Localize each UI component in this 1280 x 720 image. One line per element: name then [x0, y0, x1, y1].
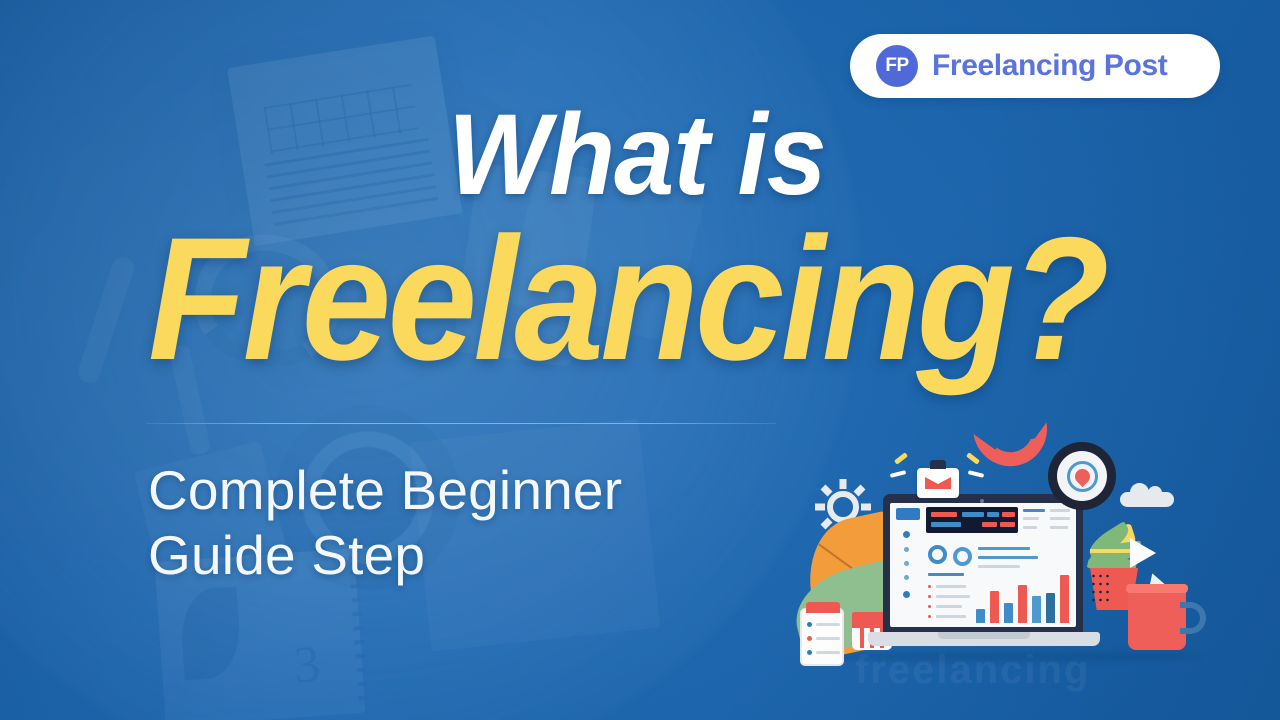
header-chip	[1000, 522, 1015, 527]
thumbnail-canvas: 3 freelancing FP Freelancing Post What i…	[0, 0, 1280, 720]
bar	[1032, 596, 1041, 623]
cloud-icon	[1120, 492, 1174, 507]
background-glow-circle	[0, 0, 860, 720]
dashboard-text-line	[1023, 517, 1039, 520]
checklist-dot	[807, 622, 812, 627]
dashboard-nav-dot	[903, 591, 910, 598]
donut-chart	[928, 545, 947, 564]
spark-line	[966, 452, 980, 465]
list-bullet	[928, 585, 931, 588]
dashboard-nav-dot	[904, 547, 909, 552]
checklist-dot	[807, 636, 812, 641]
header-chip	[987, 512, 999, 517]
header-chip	[962, 512, 984, 517]
mobile-checklist	[800, 608, 844, 666]
spark-line	[890, 470, 906, 478]
envelope-icon	[917, 468, 959, 498]
target-ring-outer	[1057, 451, 1107, 501]
header-chip	[1002, 512, 1015, 517]
brand-name-label: Freelancing Post	[932, 49, 1167, 83]
coffee-mug	[1128, 588, 1186, 650]
arrow-icon	[1130, 538, 1156, 568]
dashboard-text-line	[978, 547, 1030, 550]
brand-logo-pill[interactable]: FP Freelancing Post	[850, 34, 1220, 98]
dashboard-text-line	[936, 615, 966, 618]
dashboard-text-line	[936, 595, 970, 598]
checklist-row	[816, 623, 840, 626]
bar	[1004, 603, 1013, 623]
spark-line	[968, 470, 984, 478]
phone-handset-icon	[973, 422, 1052, 471]
background-ghost-paper	[227, 35, 483, 374]
headline-divider	[146, 423, 776, 424]
list-bullet	[928, 615, 931, 618]
bag-stripe	[860, 626, 864, 648]
background-ghost-phone	[452, 163, 597, 368]
dashboard-nav-dot	[903, 531, 910, 538]
background-ghost-leaf	[179, 587, 243, 681]
bar	[1060, 575, 1069, 623]
illustration-ground-shadow	[808, 652, 1200, 661]
background-ghost-sheet-top	[504, 157, 705, 344]
list-bullet	[928, 605, 931, 608]
dashboard-text-line	[1050, 517, 1070, 520]
map-pin	[1071, 465, 1092, 486]
dashboard-text-line	[1023, 509, 1045, 512]
dashboard-nav-dot	[904, 561, 909, 566]
decorative-dots	[1090, 572, 1110, 606]
dashboard-text-line	[936, 585, 966, 588]
background-ghost-grid	[264, 84, 420, 155]
header-chip	[982, 522, 997, 527]
headline-line-1: What is	[448, 98, 826, 213]
dashboard-text-line	[936, 605, 962, 608]
bar	[1046, 593, 1055, 623]
bar	[990, 591, 999, 623]
target-pin-icon	[1048, 442, 1116, 510]
dashboard-text-line	[928, 573, 964, 576]
list-bullet	[928, 595, 931, 598]
dashboard-text-line	[978, 556, 1038, 559]
background-ghost-headphones	[183, 221, 352, 378]
dashboard-logo-chip	[896, 508, 920, 520]
laptop-camera	[980, 499, 984, 503]
laptop-notch	[938, 632, 1030, 639]
mug-handle	[1180, 602, 1206, 634]
checklist-dot	[807, 650, 812, 655]
subtitle-block: Complete Beginner Guide Step	[148, 458, 798, 588]
dashboard-header-panel	[926, 507, 1018, 533]
bar	[976, 609, 985, 623]
dashboard-text-line	[978, 565, 1020, 568]
header-chip	[931, 512, 957, 517]
background-ghost-number: 3	[292, 635, 322, 696]
dashboard-text-line	[1023, 526, 1037, 529]
spark-line	[894, 452, 908, 465]
background-ghost-tool-left	[75, 255, 136, 385]
envelope-glyph	[925, 477, 951, 489]
bar	[1018, 585, 1027, 623]
subtitle-line-1: Complete Beginner	[148, 458, 798, 523]
headline-line-2: Freelancing?	[148, 212, 1106, 387]
laptop-dashboard	[883, 494, 1083, 634]
donut-chart	[953, 547, 972, 566]
dashboard-text-line	[1050, 509, 1070, 512]
background-ghost-tool-right	[169, 344, 211, 456]
dashboard-nav-dot	[904, 575, 909, 580]
background-ghost-lines	[264, 138, 439, 233]
checklist-row	[816, 651, 840, 654]
target-ring-inner	[1067, 461, 1098, 492]
header-chip	[931, 522, 961, 527]
fp-circle-icon: FP	[876, 45, 918, 87]
freelancer-workspace-illustration	[790, 420, 1220, 710]
subtitle-line-2: Guide Step	[148, 523, 798, 588]
brand-monogram: FP	[885, 55, 908, 77]
dashboard-screen	[890, 503, 1076, 627]
checklist-row	[816, 637, 840, 640]
dashboard-text-line	[1050, 526, 1068, 529]
